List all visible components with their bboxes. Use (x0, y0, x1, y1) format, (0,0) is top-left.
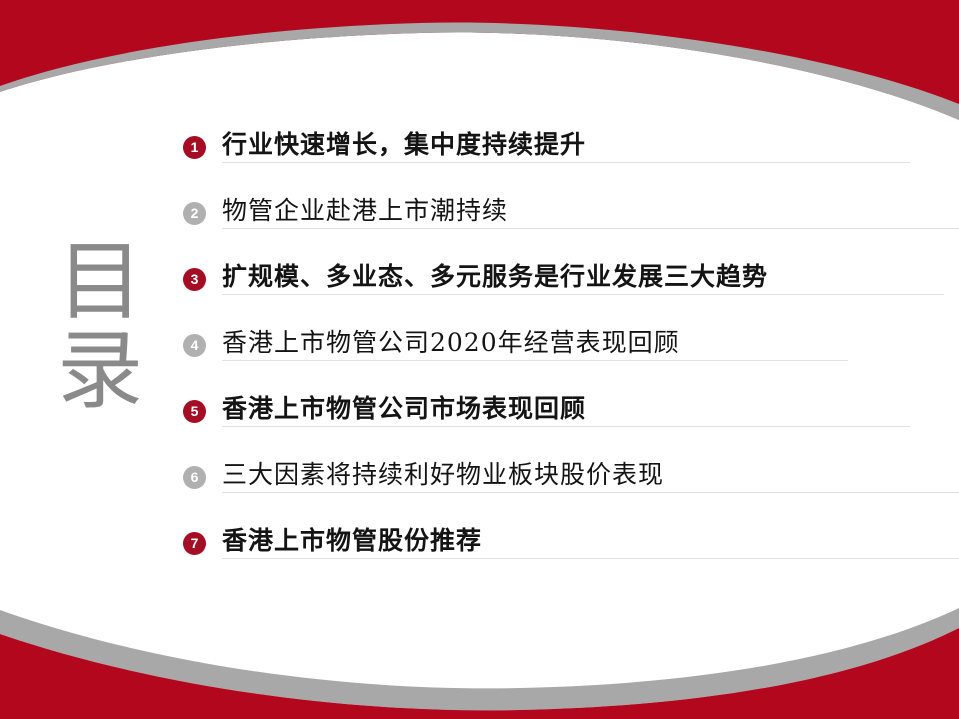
toc-item-6[interactable]: 6 三大因素将持续利好物业板块股价表现 (183, 458, 943, 524)
page-title-char-1: 目 (40, 238, 160, 327)
toc-label-2: 物管企业赴港上市潮持续 (222, 194, 508, 228)
toc-item-5[interactable]: 5 香港上市物管公司市场表现回顾 (183, 392, 943, 458)
toc-label-5: 香港上市物管公司市场表现回顾 (222, 392, 586, 426)
toc-number-badge-3: 3 (183, 268, 206, 291)
toc-label-3: 扩规模、多业态、多元服务是行业发展三大趋势 (222, 260, 768, 294)
toc-label-1: 行业快速增长，集中度持续提升 (222, 128, 586, 162)
page-title-char-2: 录 (40, 327, 160, 416)
toc-number-badge-6: 6 (183, 466, 206, 489)
toc-list: 1 行业快速增长，集中度持续提升 2 物管企业赴港上市潮持续 3 扩规模、多业态… (183, 128, 943, 590)
page-title: 目 录 (40, 238, 160, 417)
top-band-group (0, 0, 959, 120)
toc-rule-6 (222, 492, 959, 493)
toc-item-4[interactable]: 4 香港上市物管公司2020年经营表现回顾 (183, 326, 943, 392)
toc-item-2[interactable]: 2 物管企业赴港上市潮持续 (183, 194, 943, 260)
toc-rule-7 (222, 558, 959, 559)
toc-label-7: 香港上市物管股份推荐 (222, 524, 482, 558)
toc-item-3[interactable]: 3 扩规模、多业态、多元服务是行业发展三大趋势 (183, 260, 943, 326)
toc-number-badge-1: 1 (183, 136, 206, 159)
toc-rule-5 (222, 426, 910, 427)
top-red-band (0, 0, 959, 120)
toc-slide: 目 录 1 行业快速增长，集中度持续提升 2 物管企业赴港上市潮持续 3 扩规模… (0, 0, 959, 719)
bottom-band-group (0, 608, 959, 719)
toc-rule-1 (222, 162, 910, 163)
toc-number-badge-5: 5 (183, 400, 206, 423)
bottom-gray-arc (0, 608, 959, 710)
toc-item-7[interactable]: 7 香港上市物管股份推荐 (183, 524, 943, 590)
toc-number-badge-4: 4 (183, 334, 206, 357)
toc-number-badge-7: 7 (183, 532, 206, 555)
bottom-red-band (0, 628, 959, 719)
toc-rule-4 (222, 360, 848, 361)
toc-item-1[interactable]: 1 行业快速增长，集中度持续提升 (183, 128, 943, 194)
toc-rule-2 (222, 228, 959, 229)
toc-number-badge-2: 2 (183, 202, 206, 225)
toc-label-4: 香港上市物管公司2020年经营表现回顾 (222, 326, 680, 360)
toc-rule-3 (222, 294, 944, 295)
toc-label-6: 三大因素将持续利好物业板块股价表现 (222, 458, 664, 492)
top-gray-arc (0, 23, 959, 120)
